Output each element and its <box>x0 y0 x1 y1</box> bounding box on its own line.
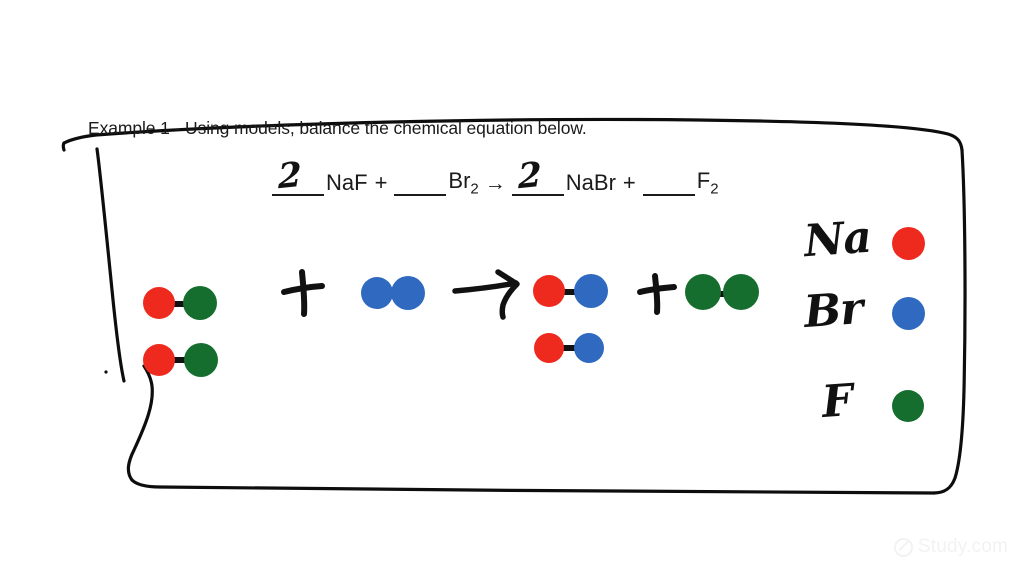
atom-f-f2-2 <box>723 274 759 310</box>
molecule-naf-2 <box>143 343 218 377</box>
formula-f2: F2 <box>695 168 719 196</box>
atom-br-br2-1 <box>361 277 393 309</box>
legend-label-f: F <box>820 375 854 428</box>
atom-br-br2-2 <box>391 276 425 310</box>
reaction-arrow <box>455 272 517 317</box>
atom-f-naf-2 <box>184 343 218 377</box>
formula-f2-base: F <box>697 168 710 193</box>
coefficient-blank-2[interactable] <box>394 172 446 196</box>
slide-title: Example 1 - Using models, balance the ch… <box>88 118 587 139</box>
atom-br-nabr-1 <box>574 274 608 308</box>
molecule-f2 <box>685 274 759 310</box>
atom-na-naf-2 <box>143 344 175 376</box>
frame-bottom-edge <box>132 480 934 493</box>
coefficient-blank-1[interactable]: 2 <box>272 172 324 196</box>
molecule-model-diagram <box>0 0 1024 576</box>
atom-na-nabr-1 <box>533 275 565 307</box>
legend-dot-f <box>892 390 924 422</box>
equation-term-reactant-2: Br2 <box>394 168 478 196</box>
equation-plus-products: + <box>616 170 643 196</box>
legend-dot-na <box>892 227 925 260</box>
legend-label-na: Na <box>802 212 872 268</box>
frame-lower-left-edge <box>128 366 152 480</box>
molecule-nabr-1 <box>533 274 608 308</box>
formula-nabr: NaBr <box>564 170 616 196</box>
watermark-text: Study.com <box>918 536 1008 558</box>
frame-right-edge <box>934 150 965 493</box>
frame-top-left-corner <box>63 143 64 150</box>
molecule-nabr-2 <box>534 333 604 363</box>
watermark: Study.com <box>894 536 1008 558</box>
atom-f-naf-1 <box>183 286 217 320</box>
formula-nabr-base: NaBr <box>566 170 616 195</box>
equation-term-product-2: F2 <box>643 168 719 196</box>
plus-sign-reactants <box>284 272 322 314</box>
atom-na-nabr-2 <box>534 333 564 363</box>
coefficient-blank-3[interactable]: 2 <box>512 172 564 196</box>
plus-sign-products <box>640 276 674 312</box>
handwritten-coefficient-3: 2 <box>518 158 542 195</box>
formula-f2-subscript: 2 <box>710 180 718 197</box>
legend-label-br: Br <box>802 283 864 338</box>
hand-drawn-frame <box>0 0 1024 576</box>
frame-pen-dot <box>104 370 107 373</box>
equation-term-reactant-1: 2 NaF <box>272 170 368 196</box>
legend-dot-br <box>892 297 925 330</box>
formula-br2: Br2 <box>446 168 478 196</box>
watermark-logo-icon <box>894 538 913 557</box>
chemical-equation: 2 NaF + Br2 → 2 NaBr + F2 <box>272 168 719 196</box>
formula-br2-base: Br <box>448 168 470 193</box>
molecule-br2 <box>361 276 425 310</box>
molecule-naf-1 <box>143 286 217 320</box>
equation-yields-arrow: → <box>479 172 512 196</box>
handwritten-coefficient-1: 2 <box>278 158 302 195</box>
frame-upper-left-edge <box>97 149 124 381</box>
formula-br2-subscript: 2 <box>470 180 478 197</box>
atom-f-f2-1 <box>685 274 721 310</box>
coefficient-blank-4[interactable] <box>643 172 695 196</box>
formula-naf-base: NaF <box>326 170 368 195</box>
formula-naf: NaF <box>324 170 368 196</box>
equation-plus-reactants: + <box>368 170 395 196</box>
atom-br-nabr-2 <box>574 333 604 363</box>
equation-term-product-1: 2 NaBr <box>512 170 616 196</box>
atom-na-naf-1 <box>143 287 175 319</box>
slide-canvas: Example 1 - Using models, balance the ch… <box>0 0 1024 576</box>
